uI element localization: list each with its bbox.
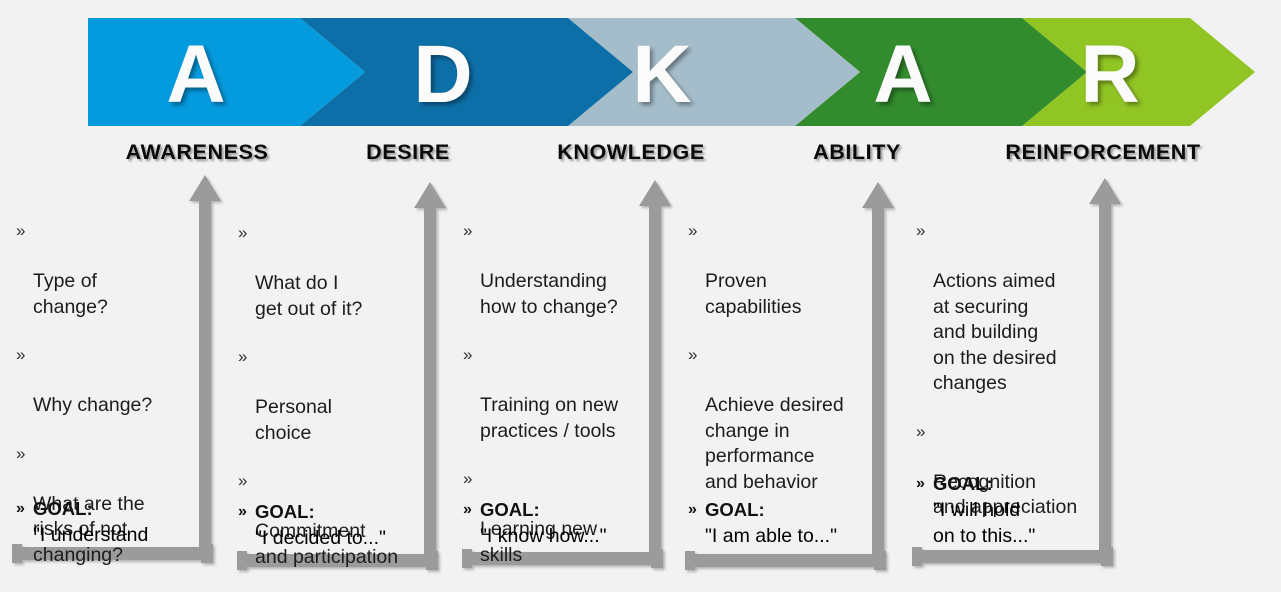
stage-label-reinforcement: REINFORCEMENT <box>1005 140 1200 165</box>
list-item-text: Training on new practices / tools <box>480 394 618 442</box>
list-item-text: Type of change? <box>33 270 108 318</box>
goal-label: » GOAL: <box>463 497 648 523</box>
list-item-text: What do I get out of it? <box>255 272 362 320</box>
goal-label-text: GOAL: <box>705 499 765 520</box>
goal-label-text: GOAL: <box>33 498 93 519</box>
bullet-marker-icon: » <box>688 497 697 523</box>
goal-label: » GOAL: <box>916 471 1111 497</box>
goal-label: » GOAL: <box>238 499 423 525</box>
list-item: » Training on new practices / tools <box>463 342 648 444</box>
stage-label-knowledge: KNOWLEDGE <box>557 140 705 165</box>
bullet-marker-icon: » <box>16 218 25 244</box>
bullet-marker-icon: » <box>916 471 925 497</box>
list-item: » Achieve desired change in performance … <box>688 342 868 495</box>
goal-label: » GOAL: <box>16 496 201 522</box>
column-ability: » Proven capabilities » Achieve desired … <box>688 218 868 517</box>
goal-label-text: GOAL: <box>933 473 993 494</box>
goal-awareness: » GOAL: "I understand <box>16 496 201 548</box>
goal-quote: "I decided to..." <box>238 525 423 551</box>
list-item: » What do I get out of it? <box>238 220 423 322</box>
adkar-banner: A D K A R <box>0 0 1281 130</box>
bullet-marker-icon: » <box>238 220 247 246</box>
bullet-marker-icon: » <box>463 342 472 368</box>
list-item: » Actions aimed at securing and building… <box>916 218 1111 397</box>
bullet-marker-icon: » <box>238 468 247 494</box>
banner-letter-a1: A <box>166 29 225 120</box>
goal-quote: "I know how..." <box>463 523 648 549</box>
goal-quote: "I understand <box>16 522 201 548</box>
list-item: » Type of change? <box>16 218 196 320</box>
goal-quote: "I am able to..." <box>688 523 868 549</box>
bullet-marker-icon: » <box>463 218 472 244</box>
banner-letter-r: R <box>1080 29 1139 120</box>
bullet-marker-icon: » <box>16 496 25 522</box>
bullet-marker-icon: » <box>688 342 697 368</box>
goal-knowledge: » GOAL: "I know how..." <box>463 497 648 549</box>
list-item-text: Personal choice <box>255 396 332 444</box>
banner-letter-a2: A <box>873 29 932 120</box>
list-item-text: Achieve desired change in performance an… <box>705 394 844 493</box>
goal-quote: "I will hold on to this..." <box>916 497 1111 549</box>
bullet-marker-icon: » <box>238 499 247 525</box>
list-item: » Understanding how to change? <box>463 218 648 320</box>
list-item-text: Understanding how to change? <box>480 270 618 318</box>
banner-letter-d: D <box>413 29 472 120</box>
stage-label-ability: ABILITY <box>813 140 901 165</box>
goal-label: » GOAL: <box>688 497 868 523</box>
goal-ability: » GOAL: "I am able to..." <box>688 497 868 549</box>
bullet-marker-icon: » <box>916 419 925 445</box>
bullet-marker-icon: » <box>463 497 472 523</box>
list-item: » Why change? <box>16 342 196 419</box>
bullet-marker-icon: » <box>463 466 472 492</box>
goal-desire: » GOAL: "I decided to..." <box>238 499 423 551</box>
bullet-marker-icon: » <box>16 441 25 467</box>
list-item-text: Proven capabilities <box>705 270 801 318</box>
bullet-marker-icon: » <box>916 218 925 244</box>
list-item: » Personal choice <box>238 344 423 446</box>
list-item: » Proven capabilities <box>688 218 868 320</box>
stage-label-desire: DESIRE <box>366 140 450 165</box>
goal-label-text: GOAL: <box>480 499 540 520</box>
goal-label-text: GOAL: <box>255 501 315 522</box>
banner-letter-k: K <box>632 29 691 120</box>
bullet-marker-icon: » <box>16 342 25 368</box>
adkar-diagram: A D K A R AWARENESS DESIRE KNOWLEDGE ABI… <box>0 0 1281 589</box>
list-item-text: Why change? <box>33 394 152 416</box>
list-item-text: Actions aimed at securing and building o… <box>933 270 1057 394</box>
bullet-marker-icon: » <box>688 218 697 244</box>
goal-reinforcement: » GOAL: "I will hold on to this..." <box>916 471 1111 549</box>
stage-label-awareness: AWARENESS <box>126 140 269 165</box>
bullet-marker-icon: » <box>238 344 247 370</box>
